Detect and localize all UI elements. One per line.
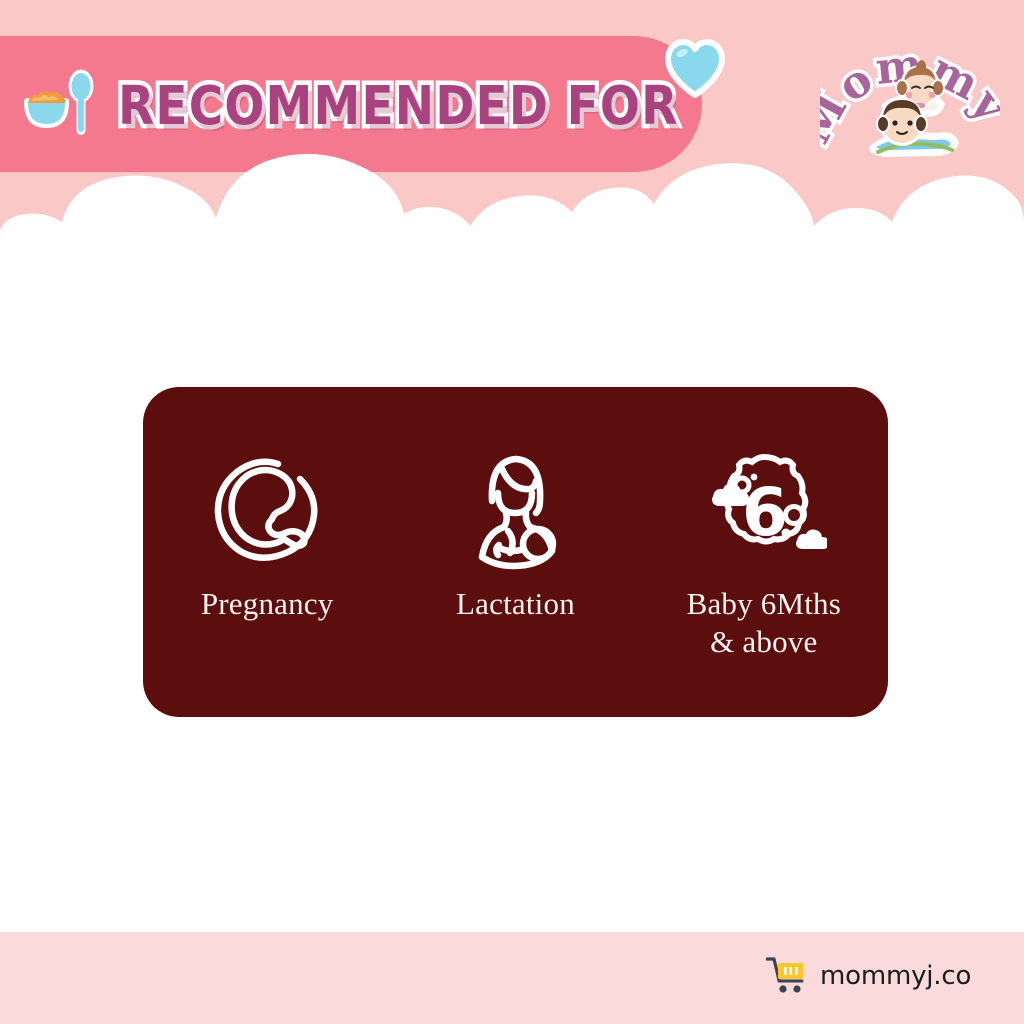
page-title: RECOMMENDED FOR	[118, 69, 658, 144]
recommendation-item-lactation: Lactation	[410, 445, 620, 623]
cloud-divider	[0, 152, 1024, 282]
recommendation-label-baby-line1: Baby 6Mths	[687, 585, 841, 623]
recommendation-columns: Pregnancy	[143, 387, 888, 717]
heart-icon	[664, 38, 726, 98]
recommendation-item-baby: 6 Baby 6Mths & above	[659, 445, 869, 661]
fetus-icon	[204, 445, 330, 571]
recommendation-label-pregnancy: Pregnancy	[201, 585, 334, 623]
recommendation-label-baby: Baby 6Mths & above	[687, 585, 841, 661]
recommended-for-card: Pregnancy	[143, 387, 888, 717]
shopping-cart-icon	[766, 956, 808, 996]
recommendation-label-lactation: Lactation	[456, 585, 575, 623]
footer-website: mommyj.co	[820, 961, 971, 991]
footer-brand[interactable]: mommyj.co	[766, 950, 971, 1002]
breastfeeding-icon	[452, 445, 578, 571]
recommendation-label-baby-line2: & above	[687, 623, 841, 661]
recommendation-item-pregnancy: Pregnancy	[162, 445, 372, 623]
page-root: RECOMMENDED FOR MommyJ	[0, 0, 1024, 1024]
bowl-spoon-icon	[18, 64, 102, 144]
baby-six-months-icon: 6	[701, 445, 827, 571]
